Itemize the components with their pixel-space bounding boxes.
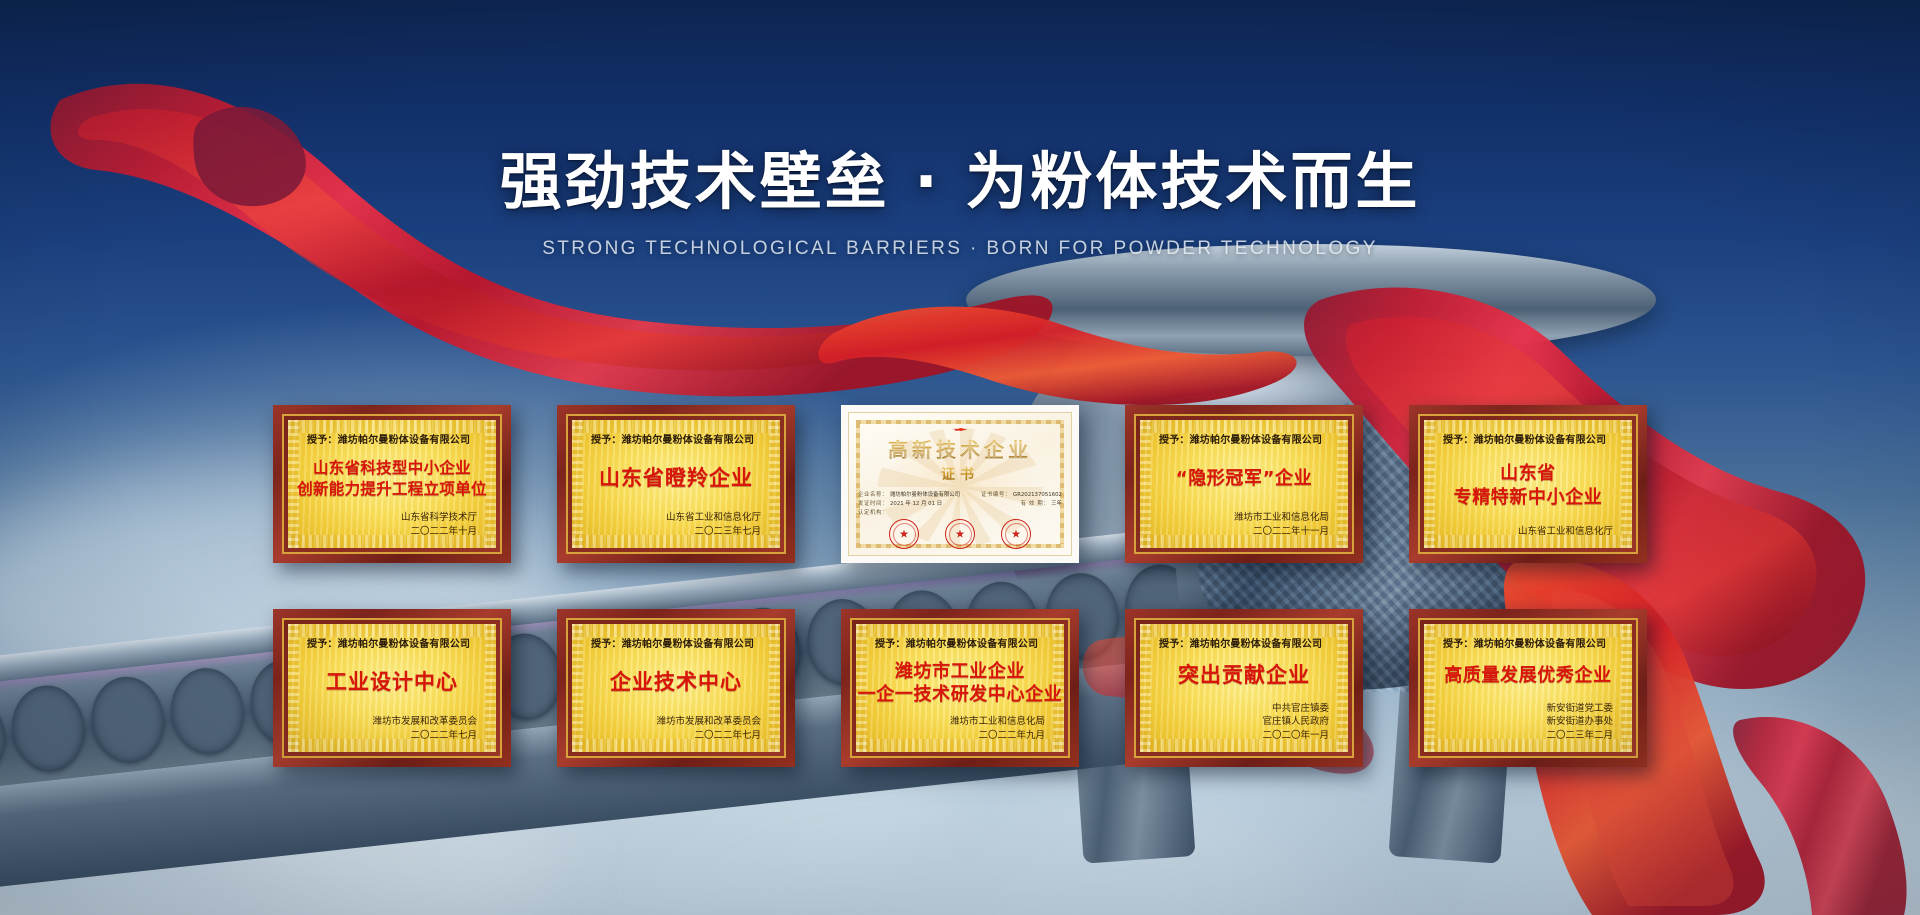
certificate-field-key: 企业名称： — [858, 490, 888, 498]
plaque-gold-bevel: 授予：潍坊帕尔曼粉体设备有限公司潍坊市工业企业一企一技术研发中心企业潍坊市工业和… — [850, 618, 1070, 758]
plaque-title: 潍坊市工业企业一企一技术研发中心企业 — [869, 650, 1051, 715]
plaque-face: 授予：潍坊帕尔曼粉体设备有限公司工业设计中心潍坊市发展和改革委员会二〇二二年七月 — [288, 624, 496, 752]
plaque-issuer-line: 潍坊市工业和信息化局 — [1153, 511, 1329, 525]
plaque-issuer-line: 新安街道党工委 — [1437, 702, 1613, 716]
plaque-title: 山东省瞪羚企业 — [585, 446, 767, 511]
certificate-field-key: 发证时间： — [858, 499, 888, 507]
award-plaque[interactable]: 授予：潍坊帕尔曼粉体设备有限公司山东省瞪羚企业山东省工业和信息化厅二〇二三年七月 — [557, 405, 795, 563]
plaque-awardee: 授予：潍坊帕尔曼粉体设备有限公司 — [1153, 431, 1335, 446]
plaque-gold-bevel: 授予：潍坊帕尔曼粉体设备有限公司山东省科技型中小企业创新能力提升工程立项单位山东… — [282, 414, 502, 554]
plaque-issuer: 山东省工业和信息化厅 — [1437, 525, 1619, 539]
plaque-issuer: 新安街道党工委新安街道办事处二〇二三年二月 — [1437, 702, 1619, 743]
plaque-title: “隐形冠军”企业 — [1153, 446, 1335, 511]
plaque-face: 授予：潍坊帕尔曼粉体设备有限公司山东省专精特新中小企业山东省工业和信息化厅 — [1424, 420, 1632, 548]
awards-row-1: 授予：潍坊帕尔曼粉体设备有限公司山东省科技型中小企业创新能力提升工程立项单位山东… — [0, 405, 1920, 563]
plaque-title: 工业设计中心 — [301, 650, 483, 715]
plaque-gold-bevel: 授予：潍坊帕尔曼粉体设备有限公司企业技术中心潍坊市发展和改革委员会二〇二二年七月 — [566, 618, 786, 758]
plaque-issuer-line: 潍坊市发展和改革委员会 — [301, 715, 477, 729]
plaque-issuer-line: 中共官庄镇委 — [1153, 702, 1329, 716]
seal-icon — [1001, 519, 1031, 549]
plaque-title-line: 山东省科技型中小企业 — [313, 459, 471, 477]
seal-star-icon — [900, 530, 909, 539]
plaque-face: 授予：潍坊帕尔曼粉体设备有限公司高质量发展优秀企业新安街道党工委新安街道办事处二… — [1424, 624, 1632, 752]
award-plaque[interactable]: 授予：潍坊帕尔曼粉体设备有限公司“隐形冠军”企业潍坊市工业和信息化局二〇二二年十… — [1125, 405, 1363, 563]
award-plaque[interactable]: 授予：潍坊帕尔曼粉体设备有限公司企业技术中心潍坊市发展和改革委员会二〇二二年七月 — [557, 609, 795, 767]
seal-icon — [889, 519, 919, 549]
plaque-awardee: 授予：潍坊帕尔曼粉体设备有限公司 — [585, 431, 767, 446]
certificate-field-key: 认定机构： — [858, 508, 888, 516]
certificate-field: 企业名称：潍坊帕尔曼粉体设备有限公司 — [858, 490, 960, 498]
plaque-issuer: 中共官庄镇委官庄镇人民政府二〇二〇年一月 — [1153, 702, 1335, 743]
plaque-issuer-line: 新安街道办事处 — [1437, 715, 1613, 729]
page-subtitle: STRONG TECHNOLOGICAL BARRIERS · BORN FOR… — [0, 238, 1920, 260]
plaque-issuer-line: 二〇二二年九月 — [869, 729, 1045, 743]
plaque-issuer: 山东省工业和信息化厅二〇二三年七月 — [585, 511, 767, 539]
certificate-field: 认定机构： — [858, 508, 890, 516]
plaque-title-line: 工业设计中心 — [326, 670, 458, 695]
plaque-gold-bevel: 授予：潍坊帕尔曼粉体设备有限公司“隐形冠军”企业潍坊市工业和信息化局二〇二二年十… — [1134, 414, 1354, 554]
award-plaque[interactable]: 授予：潍坊帕尔曼粉体设备有限公司山东省科技型中小企业创新能力提升工程立项单位山东… — [273, 405, 511, 563]
certificate-face: 高新技术企业证书企业名称：潍坊帕尔曼粉体设备有限公司证书编号：GR2021370… — [848, 412, 1072, 556]
plaque-issuer-line: 官庄镇人民政府 — [1153, 715, 1329, 729]
plaque-title: 高质量发展优秀企业 — [1437, 650, 1619, 702]
seal-star-icon — [956, 530, 965, 539]
certificate-field-key: 有 效 期： — [1021, 499, 1050, 507]
certificate-field-row: 企业名称：潍坊帕尔曼粉体设备有限公司证书编号：GR202137051602 — [858, 490, 1062, 498]
plaque-title-line: 专精特新中小企业 — [1454, 487, 1603, 508]
awards-grid: 授予：潍坊帕尔曼粉体设备有限公司山东省科技型中小企业创新能力提升工程立项单位山东… — [0, 405, 1920, 767]
certificate-field-value: 潍坊帕尔曼粉体设备有限公司 — [890, 490, 960, 498]
plaque-face: 授予：潍坊帕尔曼粉体设备有限公司山东省科技型中小企业创新能力提升工程立项单位山东… — [288, 420, 496, 548]
award-plaque[interactable]: 授予：潍坊帕尔曼粉体设备有限公司高质量发展优秀企业新安街道党工委新安街道办事处二… — [1409, 609, 1647, 767]
plaque-title-line: 一企一技术研发中心企业 — [858, 684, 1063, 705]
high-tech-enterprise-certificate[interactable]: 高新技术企业证书企业名称：潍坊帕尔曼粉体设备有限公司证书编号：GR2021370… — [841, 405, 1079, 563]
banner-stage: 强劲技术壁垒 · 为粉体技术而生 STRONG TECHNOLOGICAL BA… — [0, 0, 1920, 915]
plaque-title-line: 创新能力提升工程立项单位 — [297, 480, 487, 498]
plaque-title-line: 高质量发展优秀企业 — [1444, 665, 1611, 686]
plaque-gold-bevel: 授予：潍坊帕尔曼粉体设备有限公司山东省瞪羚企业山东省工业和信息化厅二〇二三年七月 — [566, 414, 786, 554]
plaque-issuer-line: 二〇二二年十一月 — [1153, 525, 1329, 539]
plaque-issuer-line: 二〇二三年七月 — [585, 525, 761, 539]
plaque-gold-bevel: 授予：潍坊帕尔曼粉体设备有限公司突出贡献企业中共官庄镇委官庄镇人民政府二〇二〇年… — [1134, 618, 1354, 758]
certificate-title: 高新技术企业 — [888, 434, 1032, 463]
award-plaque[interactable]: 授予：潍坊帕尔曼粉体设备有限公司潍坊市工业企业一企一技术研发中心企业潍坊市工业和… — [841, 609, 1079, 767]
plaque-title: 山东省专精特新中小企业 — [1437, 446, 1619, 525]
plaque-issuer-line: 山东省工业和信息化厅 — [1437, 525, 1613, 539]
certificate-field-key: 证书编号： — [981, 490, 1011, 498]
certificate-fields: 企业名称：潍坊帕尔曼粉体设备有限公司证书编号：GR202137051602发证时… — [858, 490, 1062, 516]
plaque-awardee: 授予：潍坊帕尔曼粉体设备有限公司 — [869, 635, 1051, 650]
plaque-issuer: 潍坊市发展和改革委员会二〇二二年七月 — [585, 715, 767, 743]
ding-rim — [966, 244, 1656, 356]
plaque-awardee: 授予：潍坊帕尔曼粉体设备有限公司 — [1437, 431, 1619, 446]
plaque-issuer-line: 二〇二三年二月 — [1437, 729, 1613, 743]
plaque-awardee: 授予：潍坊帕尔曼粉体设备有限公司 — [301, 635, 483, 650]
certificate-field-row: 发证时间：2021 年 12 月 01 日有 效 期：三年 — [858, 499, 1062, 507]
page-title: 强劲技术壁垒 · 为粉体技术而生 — [0, 148, 1920, 216]
award-plaque[interactable]: 授予：潍坊帕尔曼粉体设备有限公司工业设计中心潍坊市发展和改革委员会二〇二二年七月 — [273, 609, 511, 767]
plaque-issuer: 山东省科学技术厅二〇二二年十月 — [301, 511, 483, 539]
plaque-title-line: 潍坊市工业企业 — [895, 661, 1025, 682]
seal-icon — [945, 519, 975, 549]
plaque-issuer-line: 二〇二〇年一月 — [1153, 729, 1329, 743]
seal-star-icon — [1012, 530, 1021, 539]
plaque-issuer: 潍坊市工业和信息化局二〇二二年九月 — [869, 715, 1051, 743]
plaque-awardee: 授予：潍坊帕尔曼粉体设备有限公司 — [585, 635, 767, 650]
plaque-title: 企业技术中心 — [585, 650, 767, 715]
certificate-field: 有 效 期：三年 — [1021, 499, 1062, 507]
plaque-gold-bevel: 授予：潍坊帕尔曼粉体设备有限公司山东省专精特新中小企业山东省工业和信息化厅 — [1418, 414, 1638, 554]
award-plaque[interactable]: 授予：潍坊帕尔曼粉体设备有限公司山东省专精特新中小企业山东省工业和信息化厅 — [1409, 405, 1647, 563]
plaque-issuer-line: 二〇二二年七月 — [585, 729, 761, 743]
award-plaque[interactable]: 授予：潍坊帕尔曼粉体设备有限公司突出贡献企业中共官庄镇委官庄镇人民政府二〇二〇年… — [1125, 609, 1363, 767]
plaque-gold-bevel: 授予：潍坊帕尔曼粉体设备有限公司工业设计中心潍坊市发展和改革委员会二〇二二年七月 — [282, 618, 502, 758]
flame-icon — [951, 428, 969, 431]
certificate-seals — [858, 519, 1062, 549]
plaque-gold-bevel: 授予：潍坊帕尔曼粉体设备有限公司高质量发展优秀企业新安街道党工委新安街道办事处二… — [1418, 618, 1638, 758]
certificate-field-row: 认定机构： — [858, 508, 1062, 516]
plaque-issuer-line: 二〇二二年十月 — [301, 525, 477, 539]
plaque-issuer-line: 二〇二二年七月 — [301, 729, 477, 743]
plaque-title: 山东省科技型中小企业创新能力提升工程立项单位 — [301, 446, 483, 511]
plaque-awardee: 授予：潍坊帕尔曼粉体设备有限公司 — [1437, 635, 1619, 650]
plaque-title-line: “隐形冠军”企业 — [1176, 468, 1312, 489]
plaque-issuer-line: 潍坊市工业和信息化局 — [869, 715, 1045, 729]
certificate-field-value: GR202137051602 — [1013, 492, 1062, 498]
plaque-issuer: 潍坊市发展和改革委员会二〇二二年七月 — [301, 715, 483, 743]
certificate-subtitle: 证书 — [941, 464, 979, 484]
certificate-field: 证书编号：GR202137051602 — [981, 490, 1062, 498]
plaque-issuer-line: 潍坊市发展和改革委员会 — [585, 715, 761, 729]
awards-row-2: 授予：潍坊帕尔曼粉体设备有限公司工业设计中心潍坊市发展和改革委员会二〇二二年七月… — [0, 609, 1920, 767]
plaque-issuer-line: 山东省科学技术厅 — [301, 511, 477, 525]
plaque-awardee: 授予：潍坊帕尔曼粉体设备有限公司 — [301, 431, 483, 446]
plaque-face: 授予：潍坊帕尔曼粉体设备有限公司山东省瞪羚企业山东省工业和信息化厅二〇二三年七月 — [572, 420, 780, 548]
plaque-title-line: 企业技术中心 — [610, 670, 742, 695]
certificate-field: 发证时间：2021 年 12 月 01 日 — [858, 499, 942, 507]
certificate-field-value: 三年 — [1051, 499, 1062, 507]
plaque-title-line: 山东省瞪羚企业 — [599, 466, 753, 491]
plaque-title-line: 突出贡献企业 — [1178, 663, 1310, 688]
certificate-field-value: 2021 年 12 月 01 日 — [890, 499, 942, 507]
plaque-face: 授予：潍坊帕尔曼粉体设备有限公司“隐形冠军”企业潍坊市工业和信息化局二〇二二年十… — [1140, 420, 1348, 548]
headline-block: 强劲技术壁垒 · 为粉体技术而生 STRONG TECHNOLOGICAL BA… — [0, 148, 1920, 260]
plaque-face: 授予：潍坊帕尔曼粉体设备有限公司突出贡献企业中共官庄镇委官庄镇人民政府二〇二〇年… — [1140, 624, 1348, 752]
plaque-awardee: 授予：潍坊帕尔曼粉体设备有限公司 — [1153, 635, 1335, 650]
plaque-title: 突出贡献企业 — [1153, 650, 1335, 702]
plaque-issuer-line: 山东省工业和信息化厅 — [585, 511, 761, 525]
plaque-face: 授予：潍坊帕尔曼粉体设备有限公司企业技术中心潍坊市发展和改革委员会二〇二二年七月 — [572, 624, 780, 752]
plaque-face: 授予：潍坊帕尔曼粉体设备有限公司潍坊市工业企业一企一技术研发中心企业潍坊市工业和… — [856, 624, 1064, 752]
plaque-title-line: 山东省 — [1500, 463, 1556, 484]
plaque-issuer: 潍坊市工业和信息化局二〇二二年十一月 — [1153, 511, 1335, 539]
